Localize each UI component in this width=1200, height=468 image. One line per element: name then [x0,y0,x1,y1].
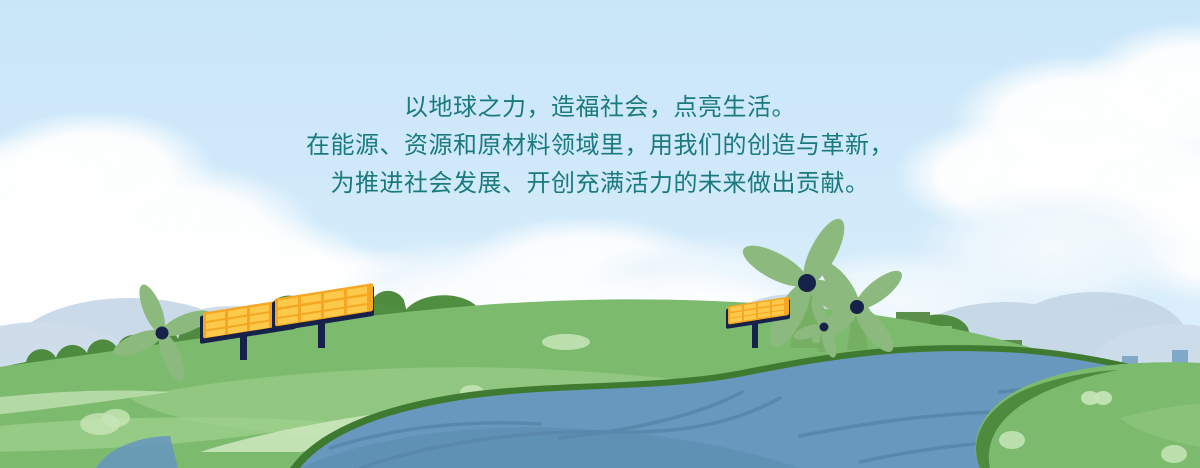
landscape-illustration [0,0,1200,468]
eco-landscape-banner: 以地球之力，造福社会，点亮生活。 在能源、资源和原材料领域里，用我们的创造与革新… [0,0,1200,468]
